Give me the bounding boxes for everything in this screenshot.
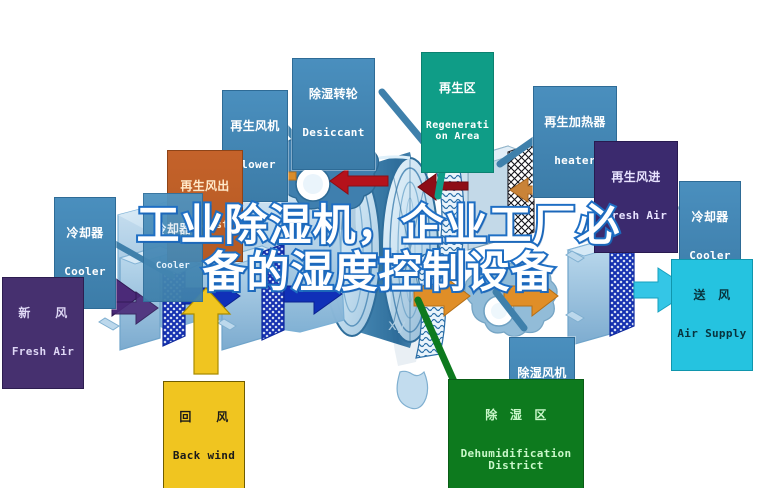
label-fresh-air: 新 风 Fresh Air [2, 277, 84, 389]
diagram-canvas: xy 除湿转轮 Desiccant 再生风机 Blower 再生区 Regene… [0, 0, 757, 488]
label-regeneration-fresh-air: 再生风进 Fresh Air [594, 141, 678, 253]
label-desiccant-wheel: 除湿转轮 Desiccant [292, 58, 375, 170]
svg-text:xy: xy [388, 316, 406, 334]
label-back-wind: 回 风 Back wind [163, 381, 245, 488]
label-regeneration-area: 再生区 Regenerati on Area [421, 52, 494, 173]
label-dehumidification-district: 除 湿 区 Dehumidification District [448, 379, 584, 488]
label-cooler-mid: 冷却器 Cooler [143, 193, 203, 302]
label-air-supply: 送 风 Air Supply [671, 259, 753, 371]
